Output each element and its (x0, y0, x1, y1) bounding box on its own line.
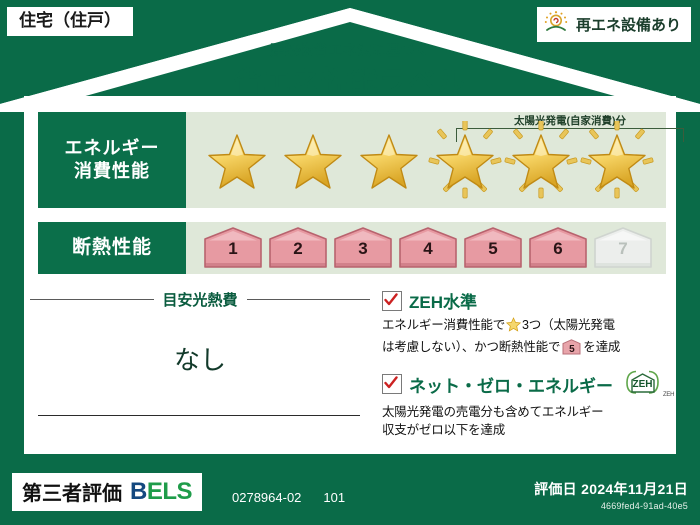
insulation-performance-label: 断熱性能 (38, 222, 186, 274)
insulation-level-3: 3 (332, 226, 394, 270)
star-2 (276, 121, 350, 199)
insulation-level-4: 4 (397, 226, 459, 270)
insulation-performance-body: 1 2 3 4 5 (186, 222, 666, 274)
bels-wordmark-els: ELS (147, 478, 192, 505)
check-icon (384, 376, 398, 390)
net-zero-desc-part2: 収支がゼロ以下を達成 (382, 423, 505, 437)
evaluation-date-label: 評価日 (534, 481, 577, 497)
insulation-level-1: 1 (202, 226, 264, 270)
zeh-standard-checkbox[interactable] (382, 291, 402, 311)
insulation-level-chip: 5 (562, 339, 581, 355)
insulation-level-scale: 1 2 3 4 5 (186, 222, 666, 274)
check-icon (384, 293, 398, 307)
insulation-level-number: 7 (592, 239, 654, 259)
energy-performance-row: エネルギー 消費性能 太陽光発電(自家消費)分 (38, 112, 666, 208)
evaluation-info: 評価日 2024年11月21日 4669fed4-91ad-40e5 (534, 479, 688, 511)
svg-text:ZEH: ZEH (633, 379, 653, 390)
evaluation-hash: 4669fed4-91ad-40e5 (534, 501, 688, 511)
zeh-standard-description: エネルギー消費性能で3つ（太陽光発電 は考慮しない）、かつ断熱性能で5を達成 (382, 316, 678, 357)
label-subtitle: 建築物省エネ法に基づく (0, 40, 700, 60)
renewable-badge-label: 再エネ設備あり (576, 14, 681, 35)
bels-certification-mark: 第三者評価 BELS (12, 473, 202, 511)
star-icon (506, 317, 521, 338)
energy-label-line1: エネルギー (65, 137, 160, 160)
insulation-level-number: 1 (202, 239, 264, 259)
zeh-trademark: ZEH (663, 392, 674, 400)
certificate-numbers: 0278964-02 101 (232, 490, 345, 505)
star-rating (186, 112, 666, 208)
utility-cost-value: なし (30, 340, 370, 377)
compliance-checklist: ZEH水準 エネルギー消費性能で3つ（太陽光発電 は考慮しない）、かつ断熱性能で… (382, 288, 678, 452)
insulation-level-7: 7 (592, 226, 654, 270)
evaluation-date: 評価日 2024年11月21日 (534, 479, 688, 499)
energy-label-line2: 消費性能 (74, 160, 150, 183)
insulation-level-2: 2 (267, 226, 329, 270)
bels-energy-label: 住宅（住戸） 再エネ設備あり 建築物省エネ法に基づく 省エネ性能ラベル エネルギ… (0, 0, 700, 525)
star-6 (580, 121, 654, 199)
label-title: 省エネ性能ラベル (0, 60, 700, 100)
insulation-chip-number: 5 (562, 342, 581, 357)
net-zero-desc-part1: 太陽光発電の売電分も含めてエネルギー (382, 405, 603, 419)
insulation-level-number: 6 (527, 239, 589, 259)
zeh-standard-head: ZEH水準 (382, 288, 678, 313)
zeh-house-icon: ZEH (624, 369, 662, 400)
star-3 (352, 121, 426, 199)
utility-cost-underline (38, 415, 360, 417)
net-zero-checkbox[interactable] (382, 374, 402, 394)
insulation-level-number: 5 (462, 239, 524, 259)
net-zero-description: 太陽光発電の売電分も含めてエネルギー 収支がゼロ以下を達成 (382, 403, 678, 441)
building-type-label: 住宅（住戸） (19, 11, 121, 30)
zeh-desc-part4: を達成 (583, 340, 620, 354)
energy-performance-body: 太陽光発電(自家消費)分 (186, 112, 666, 208)
insulation-level-number: 4 (397, 239, 459, 259)
utility-cost-title-row: 目安光熱費 (30, 288, 370, 310)
renewable-energy-badge: 再エネ設備あり (536, 6, 692, 43)
net-zero-title: ネット・ゼロ・エネルギー (409, 372, 613, 397)
unit-number: 101 (323, 490, 345, 505)
insulation-label-text: 断熱性能 (72, 236, 152, 260)
certificate-number: 0278964-02 (232, 490, 301, 505)
label-footer: 第三者評価 BELS 0278964-02 101 評価日 2024年11月21… (0, 463, 700, 525)
evaluation-date-value: 2024年11月21日 (581, 481, 688, 497)
insulation-level-6: 6 (527, 226, 589, 270)
rule-right (247, 299, 371, 300)
zeh-desc-part3: は考慮しない）、かつ断熱性能で (382, 340, 560, 354)
star-5 (504, 121, 578, 199)
net-zero-head: ネット・ゼロ・エネルギー ZEH ZEH (382, 369, 678, 400)
star-1 (200, 121, 274, 199)
check-item-net-zero-energy: ネット・ゼロ・エネルギー ZEH ZEH (382, 369, 678, 441)
zeh-desc-part1: エネルギー消費性能で (382, 318, 505, 332)
rule-left (30, 299, 154, 300)
zeh-logo: ZEH ZEH (624, 369, 674, 400)
insulation-level-5: 5 (462, 226, 524, 270)
sun-icon (543, 10, 569, 39)
insulation-performance-row: 断熱性能 1 2 3 (38, 222, 666, 274)
building-type-badge: 住宅（住戸） (6, 6, 134, 37)
insulation-level-number: 3 (332, 239, 394, 259)
star-4 (428, 121, 502, 199)
energy-performance-label: エネルギー 消費性能 (38, 112, 186, 208)
bels-wordmark-b: B (130, 478, 147, 505)
insulation-level-number: 2 (267, 239, 329, 259)
utility-cost-panel: 目安光熱費 なし (30, 288, 370, 448)
zeh-desc-part2: 3つ（太陽光発電 (522, 318, 615, 332)
utility-cost-title: 目安光熱費 (154, 289, 247, 310)
check-item-zeh-standard: ZEH水準 エネルギー消費性能で3つ（太陽光発電 は考慮しない）、かつ断熱性能で… (382, 288, 678, 357)
bels-wordmark: BELS (130, 478, 192, 506)
bels-jp-label: 第三者評価 (22, 477, 122, 506)
zeh-standard-title: ZEH水準 (409, 288, 477, 313)
